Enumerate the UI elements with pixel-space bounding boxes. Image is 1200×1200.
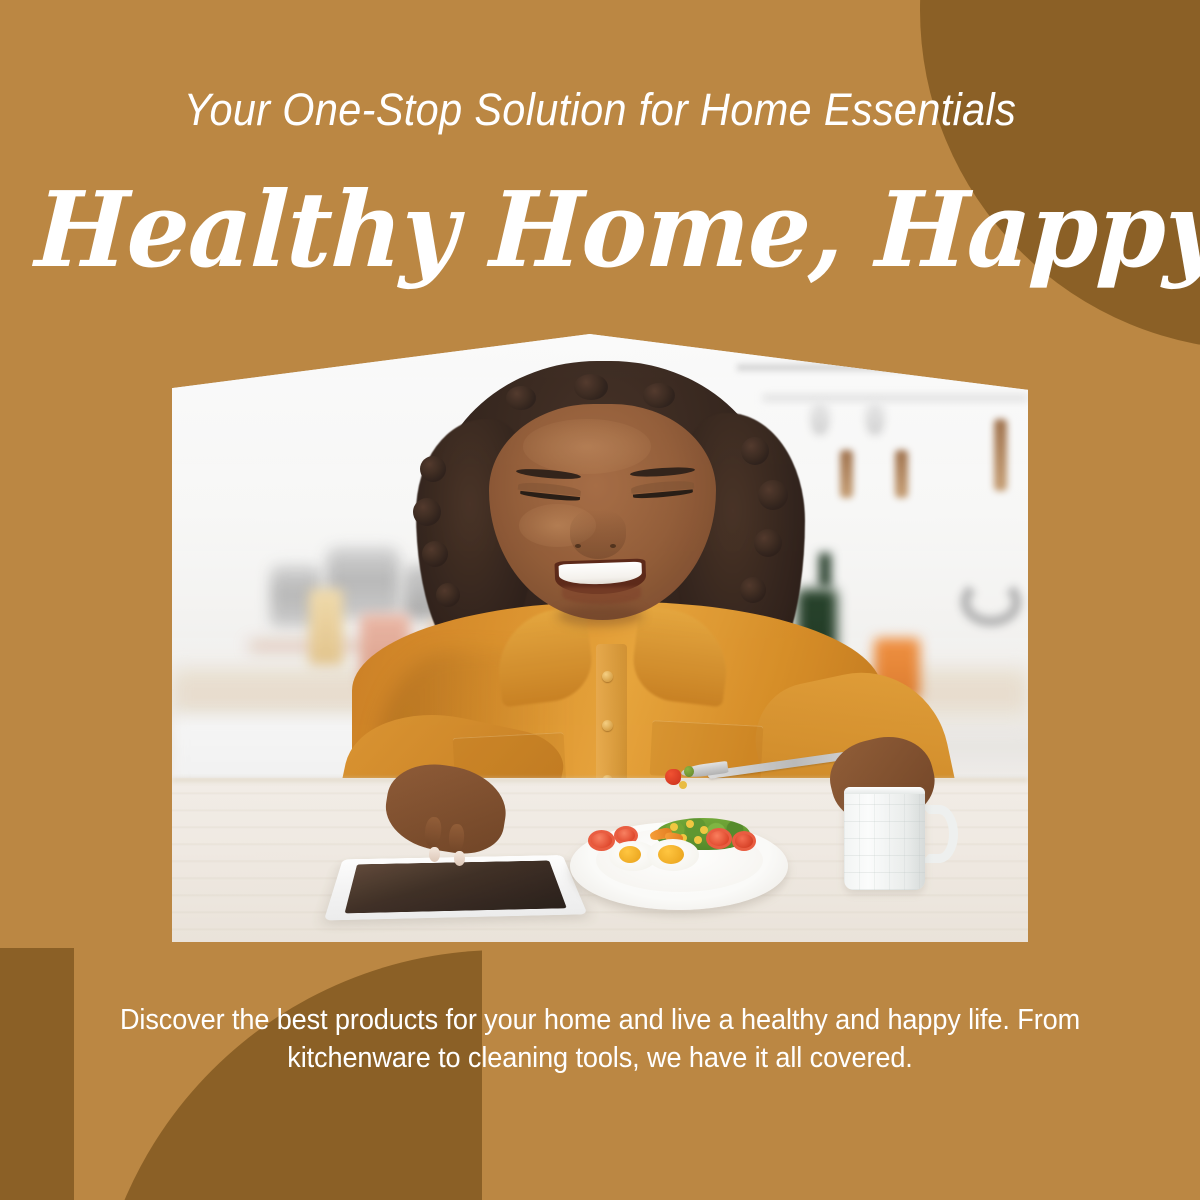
- tomato-slice: [706, 828, 732, 849]
- poster-canvas: Your One-Stop Solution for Home Essentia…: [0, 0, 1200, 1200]
- hair-curl: [506, 386, 536, 410]
- mug-texture: [844, 787, 925, 890]
- teeth: [559, 561, 643, 585]
- greens-on-fork: [684, 766, 694, 777]
- mug-rim: [844, 787, 925, 794]
- hero-image: [172, 334, 1028, 942]
- hair-curl: [643, 383, 675, 408]
- lower-lip: [562, 587, 641, 604]
- hair-curl: [574, 374, 608, 400]
- tagline: Your One-Stop Solution for Home Essentia…: [48, 84, 1152, 136]
- hair-curl: [422, 541, 448, 567]
- chin-shadow: [557, 605, 643, 626]
- mug-handle: [920, 805, 958, 863]
- hair-curl: [436, 583, 460, 607]
- nose: [570, 510, 626, 559]
- body-description: Discover the best products for your home…: [87, 1002, 1113, 1077]
- coffee-mug: [844, 787, 925, 890]
- hero-image-content: [172, 334, 1028, 942]
- page-title: Healthy Home, Happy Life: [33, 178, 1166, 282]
- hair-curl: [420, 456, 446, 482]
- hair-curl: [758, 480, 788, 510]
- rectangle-bottom-left-shape: [0, 948, 74, 1200]
- blouse-button: [602, 720, 613, 731]
- tablet-screen: [344, 860, 566, 913]
- fingernail: [429, 847, 440, 862]
- forehead-highlight: [523, 419, 651, 474]
- egg-yolk: [658, 845, 684, 864]
- hair-curl: [754, 529, 782, 557]
- egg-yolk: [619, 846, 641, 863]
- fingernail: [454, 851, 465, 866]
- tablet-device: [323, 855, 587, 921]
